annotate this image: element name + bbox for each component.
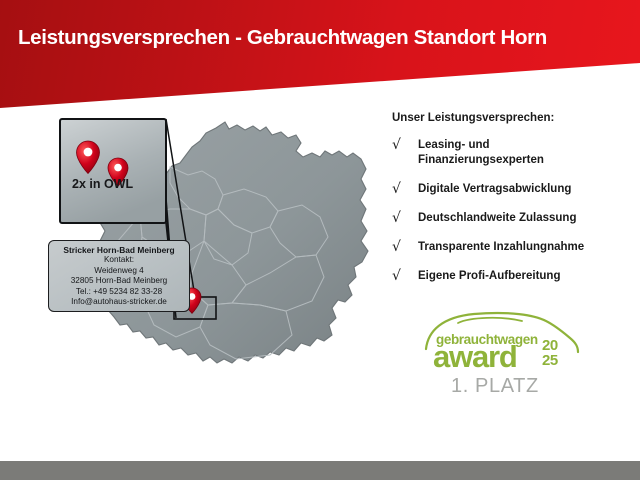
award-year-bottom: 25 xyxy=(542,354,558,369)
promises-list: √ Leasing- und Finanzierungsexperten √ D… xyxy=(392,138,636,298)
promise-label: Digitale Vertragsabwicklung xyxy=(418,182,636,197)
slide-root: Leistungsversprechen - Gebrauchtwagen St… xyxy=(0,0,640,480)
award-word: award xyxy=(433,341,517,372)
address-contact-label: Kontakt: xyxy=(49,255,189,265)
page-title: Leistungsversprechen - Gebrauchtwagen St… xyxy=(18,26,628,50)
promise-item: √ Leasing- und Finanzierungsexperten xyxy=(392,138,636,168)
promise-item: √ Deutschlandweite Zulassung xyxy=(392,211,636,226)
address-phone: Tel.: +49 5234 82 33-28 xyxy=(49,287,189,297)
check-icon: √ xyxy=(392,137,408,153)
check-icon: √ xyxy=(392,239,408,255)
promise-label: Eigene Profi-Aufbereitung xyxy=(418,269,636,284)
promise-item: √ Eigene Profi-Aufbereitung xyxy=(392,269,636,284)
check-icon: √ xyxy=(392,210,408,226)
check-icon: √ xyxy=(392,268,408,284)
address-name: Stricker Horn-Bad Meinberg xyxy=(49,245,189,255)
footer-bar xyxy=(0,461,640,480)
promise-label: Leasing- und xyxy=(418,138,636,153)
address-callout: Stricker Horn-Bad Meinberg Kontakt: Weid… xyxy=(48,240,190,312)
promise-item: √ Digitale Vertragsabwicklung xyxy=(392,182,636,197)
award-rank: 1. PLATZ xyxy=(451,375,539,398)
award-year: 20 25 xyxy=(542,339,558,368)
promises-heading: Unser Leistungsversprechen: xyxy=(392,112,554,124)
promise-label: Deutschlandweite Zulassung xyxy=(418,211,636,226)
check-icon: √ xyxy=(392,181,408,197)
promise-item: √ Transparente Inzahlungnahme xyxy=(392,240,636,255)
award-badge: gebrauchtwagen award 20 25 1. PLATZ xyxy=(418,305,588,397)
address-street: Weidenweg 4 xyxy=(49,266,189,276)
address-email: Info@autohaus-stricker.de xyxy=(49,297,189,307)
promise-label: Transparente Inzahlungnahme xyxy=(418,240,636,255)
zoom-box-label: 2x in OWL xyxy=(72,177,133,191)
promise-label-2: Finanzierungsexperten xyxy=(418,153,636,168)
header-banner xyxy=(0,0,640,110)
address-city: 32805 Horn-Bad Meinberg xyxy=(49,276,189,286)
brand-logo-row: Horn Nutzfahrzeuge Service SKODA Service xyxy=(0,404,640,460)
